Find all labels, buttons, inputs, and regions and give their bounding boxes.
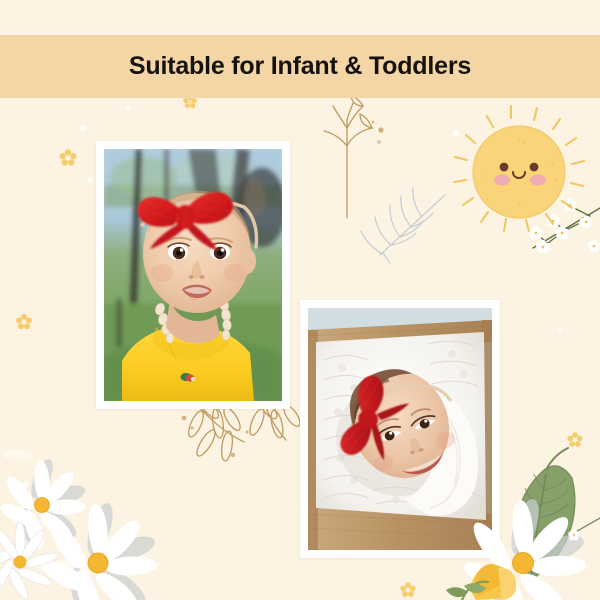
photo-infant-outdoor (104, 149, 282, 401)
photo-infant-outdoor-image (104, 149, 282, 401)
gold-dot-icon (372, 121, 375, 124)
gold-dot-icon (182, 416, 249, 458)
sun-body (473, 126, 565, 218)
daisy-icon (39, 500, 157, 600)
soft-highlight (2, 450, 34, 460)
photo-newborn-swaddled-image (308, 308, 492, 550)
gold-dot-icon (378, 127, 383, 132)
grey-fern-icon (361, 188, 445, 255)
gold-sprig-icon (324, 96, 372, 218)
yellow-tulip-icon (446, 564, 516, 600)
soft-highlight (38, 560, 118, 574)
smiling-sun-icon (454, 106, 584, 231)
sun-cheek-right (530, 175, 546, 186)
grey-fern-icon (383, 253, 390, 263)
sun-eye-left (500, 163, 509, 172)
headline-banner: Suitable for Infant & Toddlers (0, 35, 600, 98)
promo-banner-page: Suitable for Infant & Toddlers (0, 0, 600, 600)
daisy-icon (0, 457, 87, 551)
white-sprig-icon (568, 518, 600, 541)
photo-card-infant-outdoor[interactable] (96, 141, 290, 409)
sun-cheek-left (494, 175, 510, 186)
sun-smile (513, 172, 525, 178)
sun-eye-right (530, 163, 539, 172)
green-leaf-icon (516, 448, 575, 580)
daisy-outline-icon (0, 522, 60, 600)
photo-card-newborn-swaddled[interactable] (300, 300, 500, 558)
photo-newborn-swaddled (308, 308, 492, 550)
white-sprig-icon (529, 198, 600, 253)
gold-dot-icon (377, 140, 381, 144)
page-title: Suitable for Infant & Toddlers (129, 52, 471, 81)
sun-freckle-icon (481, 140, 557, 207)
